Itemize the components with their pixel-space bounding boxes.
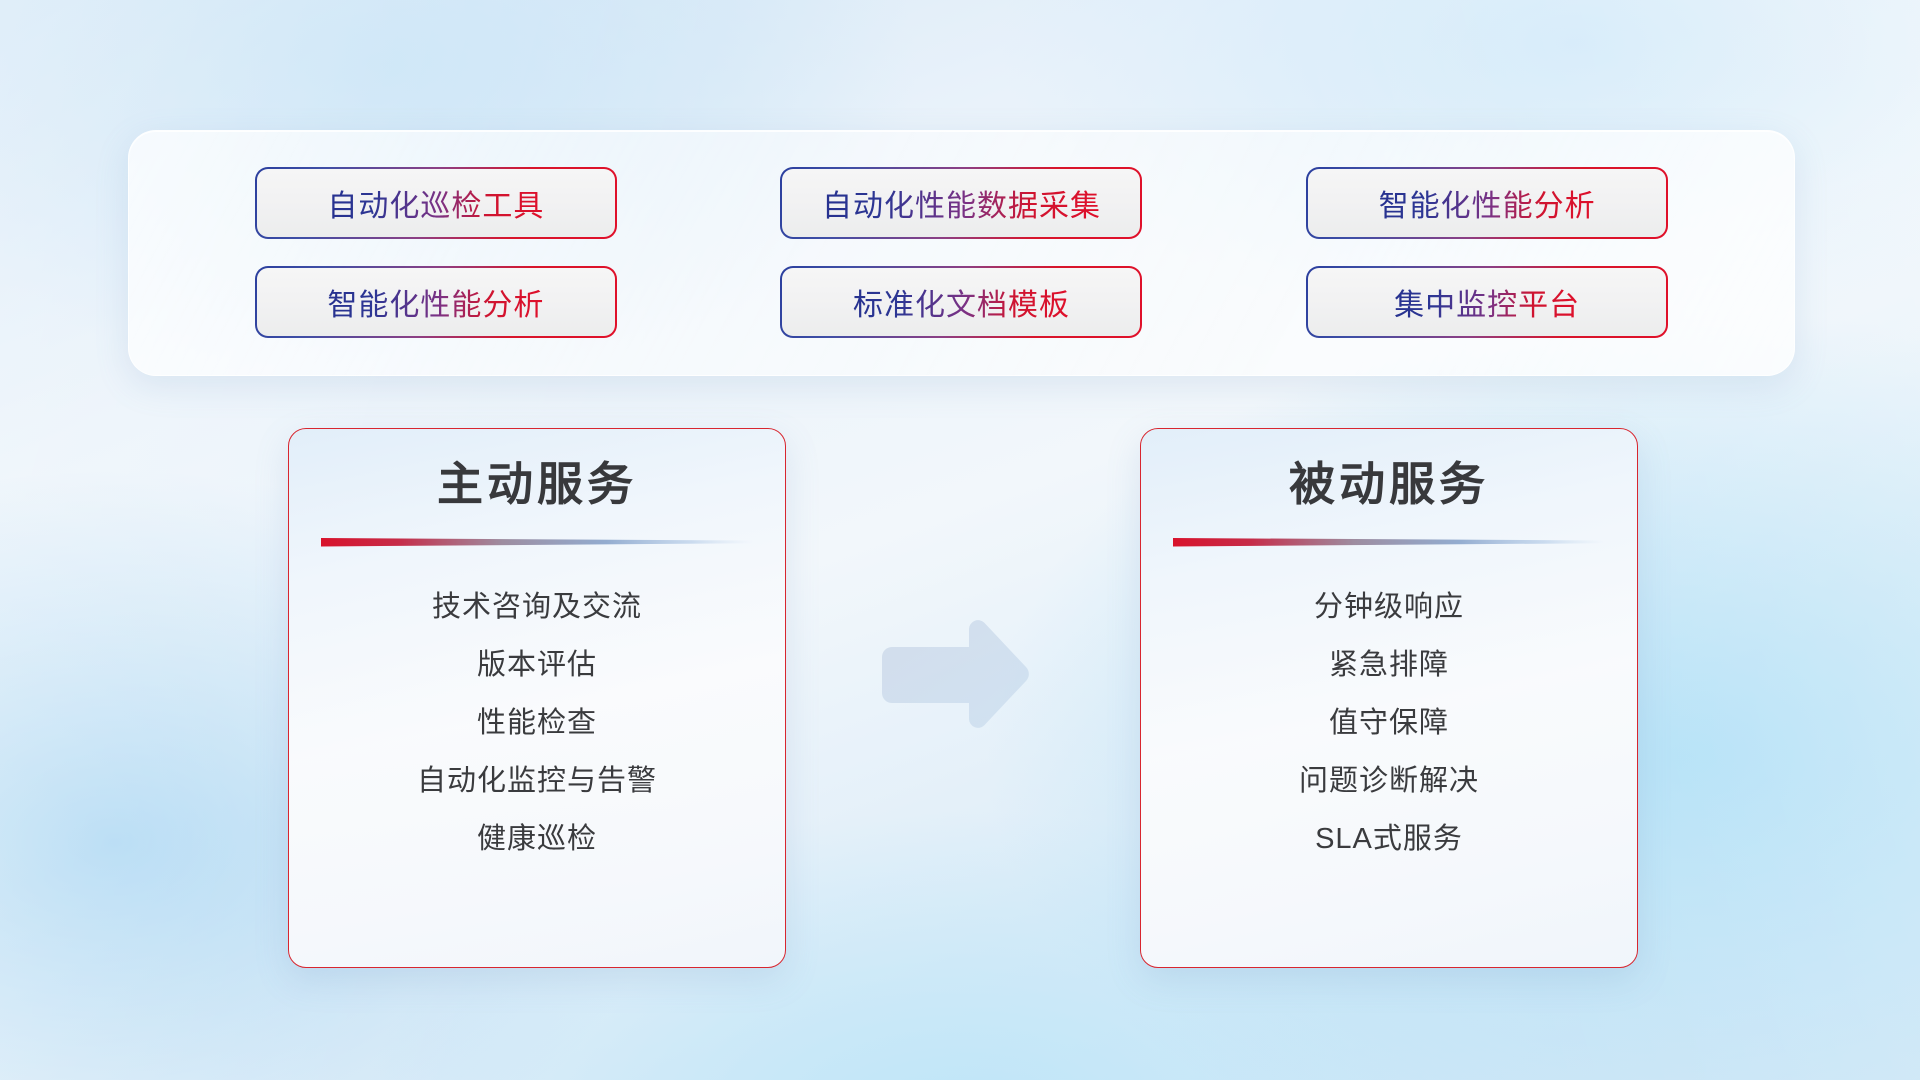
slide-canvas: 自动化巡检工具 自动化性能数据采集 智能化性能分析 智能化性能分析 标准化文档模… [0,0,1920,1080]
capability-panel: 自动化巡检工具 自动化性能数据采集 智能化性能分析 智能化性能分析 标准化文档模… [128,130,1795,376]
service-item[interactable]: 分钟级响应 [1141,578,1637,636]
capability-pill-label: 标准化文档模板 [853,280,1070,324]
card-title: 主动服务 [289,457,785,512]
service-item-list: 分钟级响应 紧急排障 值守保障 问题诊断解决 SLA式服务 [1141,578,1637,868]
capability-pill[interactable]: 自动化性能数据采集 [782,169,1140,237]
capability-pill[interactable]: 自动化巡检工具 [257,169,615,237]
capability-pill[interactable]: 标准化文档模板 [782,268,1140,336]
service-item[interactable]: 健康巡检 [289,810,785,868]
capability-pill-label: 智能化性能分析 [1379,181,1596,225]
service-item[interactable]: 技术咨询及交流 [289,578,785,636]
service-item[interactable]: 性能检查 [289,694,785,752]
service-item[interactable]: 值守保障 [1141,694,1637,752]
service-item[interactable]: 紧急排障 [1141,636,1637,694]
service-item-list: 技术咨询及交流 版本评估 性能检查 自动化监控与告警 健康巡检 [289,578,785,868]
capability-pill[interactable]: 集中监控平台 [1308,268,1666,336]
service-card-proactive: 主动服务 技术咨询及交流 版本评估 性能检查 [288,428,786,968]
capability-pill-grid: 自动化巡检工具 自动化性能数据采集 智能化性能分析 智能化性能分析 标准化文档模… [129,131,1794,375]
service-item[interactable]: 自动化监控与告警 [289,752,785,810]
card-divider [321,536,753,548]
capability-pill-label: 集中监控平台 [1394,280,1580,324]
capability-pill[interactable]: 智能化性能分析 [1308,169,1666,237]
capability-pill-label: 智能化性能分析 [327,280,544,324]
arrow-right-icon [874,617,1034,735]
card-divider [1173,536,1605,548]
capability-pill-label: 自动化巡检工具 [327,181,544,225]
card-title: 被动服务 [1141,457,1637,512]
service-item[interactable]: 问题诊断解决 [1141,752,1637,810]
service-item[interactable]: SLA式服务 [1141,810,1637,868]
service-card-reactive: 被动服务 分钟级响应 紧急排障 值守保障 [1140,428,1638,968]
capability-pill-label: 自动化性能数据采集 [822,181,1101,225]
capability-pill[interactable]: 智能化性能分析 [257,268,615,336]
service-item[interactable]: 版本评估 [289,636,785,694]
